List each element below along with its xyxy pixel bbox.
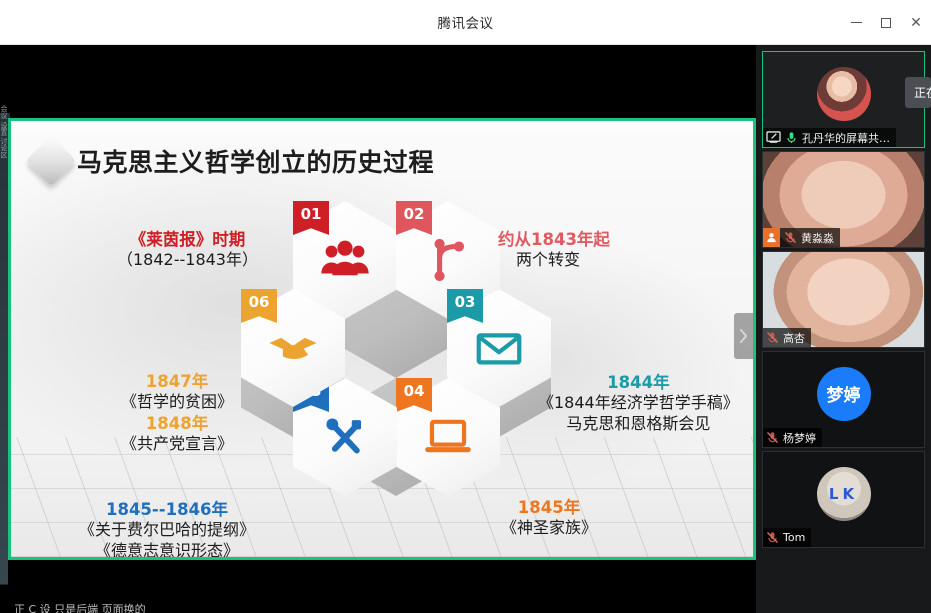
next-slide-button[interactable]: [734, 313, 753, 359]
participant-tile-3[interactable]: 梦婷 杨梦婷: [762, 351, 925, 448]
annotation-03-body: 《1844年经济学哲学手稿》 马克思和恩格斯会见: [538, 393, 739, 434]
participant-name-1: 黄淼淼: [801, 230, 834, 246]
git-branch-icon: [421, 233, 475, 287]
annotation-06: 1847年 《哲学的贫困》 1848年 《共产党宣言》: [121, 371, 233, 454]
hex-number-03: 03: [455, 293, 476, 311]
slide-title-row: 马克思主义哲学创立的历史过程: [33, 143, 434, 179]
close-icon: ✕: [910, 16, 922, 30]
mic-muted-icon: [766, 431, 779, 444]
annotation-01: 《莱茵报》时期 （1842--1843年）: [117, 229, 258, 271]
annotation-05: 1845--1846年 《关于费尔巴哈的提纲》 《德意志意识形态》: [79, 499, 255, 560]
annotation-02-heading: 约从1843年起: [498, 229, 610, 250]
shared-screen-stage[interactable]: 马克思主义哲学创立的历史过程: [8, 118, 756, 560]
mic-muted-icon: [784, 231, 797, 244]
participant-name-row-3: 杨梦婷: [763, 428, 822, 447]
meeting-content: 会议 设置 讨论区 马克思主义哲学创立的历史过程: [0, 45, 931, 613]
annotation-05-heading: 1845--1846年: [79, 499, 255, 520]
window-title: 腾讯会议: [438, 12, 494, 32]
minimize-button[interactable]: [841, 0, 871, 45]
mic-on-icon: [785, 131, 798, 144]
screen-share-icon: [766, 131, 781, 144]
annotation-04-body: 《神圣家族》: [501, 518, 597, 538]
avatar-4: LK: [817, 467, 871, 521]
close-button[interactable]: ✕: [901, 0, 931, 45]
slide-title: 马克思主义哲学创立的历史过程: [77, 143, 434, 179]
participant-name-row-0: 孔丹华的屏幕共…: [763, 128, 896, 147]
annotation-06-body-a: 《哲学的贫困》: [121, 392, 233, 412]
annotation-06-body-b: 《共产党宣言》: [121, 434, 233, 454]
tools-icon: [318, 410, 372, 464]
annotation-03: 1844年 《1844年经济学哲学手稿》 马克思和恩格斯会见: [538, 372, 739, 434]
presentation-slide: 马克思主义哲学创立的历史过程: [11, 121, 753, 557]
annotation-02: 约从1843年起 两个转变: [498, 229, 610, 271]
hex-number-04: 04: [404, 382, 425, 400]
tencent-meeting-window: 腾讯会议 ✕ 会议 设置 讨论区 马克思主义哲学创立的历史过程: [0, 0, 931, 613]
sharing-status-tooltip: 正在共享屏幕: [905, 77, 931, 108]
participant-name-row-4: Tom: [763, 528, 811, 547]
minimize-icon: [851, 22, 862, 23]
bottom-clipped-area: 正 C 设 只是后端 页面换的: [8, 560, 756, 613]
annotation-04: 1845年 《神圣家族》: [501, 497, 597, 539]
participant-tile-2[interactable]: 高杏: [762, 251, 925, 348]
mic-muted-icon: [766, 531, 779, 544]
diamond-icon: [26, 136, 77, 187]
maximize-button[interactable]: [871, 0, 901, 45]
handshake-icon: [266, 321, 320, 375]
annotation-04-heading: 1845年: [501, 497, 597, 518]
avatar-overlay-text-4: LK: [829, 485, 858, 503]
avatar-3: 梦婷: [817, 367, 871, 421]
annotation-03-heading: 1844年: [538, 372, 739, 393]
avatar-initials-3: 梦婷: [827, 381, 861, 406]
participant-name-4: Tom: [783, 531, 805, 544]
window-controls: ✕: [841, 0, 931, 45]
maximize-icon: [881, 18, 891, 28]
participant-name-row-2: 高杏: [763, 328, 811, 347]
avatar-0: [817, 67, 871, 121]
participant-name-0: 孔丹华的屏幕共…: [802, 130, 890, 146]
participant-name-3: 杨梦婷: [783, 430, 816, 446]
annotation-06-heading-b: 1848年: [121, 413, 233, 434]
participant-name-2: 高杏: [783, 330, 805, 346]
participant-tile-1[interactable]: 黄淼淼: [762, 151, 925, 248]
hex-number-02: 02: [404, 205, 425, 223]
title-bar: 腾讯会议 ✕: [0, 0, 931, 45]
envelope-icon: [472, 321, 526, 375]
laptop-icon: [421, 410, 475, 464]
participant-tile-0[interactable]: 孔丹华的屏幕共…: [762, 51, 925, 148]
chevron-right-icon: [738, 328, 749, 344]
annotation-02-body: 两个转变: [498, 250, 610, 270]
person-icon: [763, 228, 780, 247]
hex-number-01: 01: [301, 205, 322, 223]
participant-rail[interactable]: 孔丹华的屏幕共… 黄淼淼: [756, 45, 931, 613]
annotation-05-body: 《关于费尔巴哈的提纲》 《德意志意识形态》: [79, 520, 255, 560]
hex-number-06: 06: [249, 293, 270, 311]
annotation-06-heading-a: 1847年: [121, 371, 233, 392]
participant-tile-4[interactable]: LK Tom: [762, 451, 925, 548]
annotation-01-heading: 《莱茵报》时期: [117, 229, 258, 250]
mic-muted-icon: [766, 331, 779, 344]
annotation-01-body: （1842--1843年）: [117, 250, 258, 270]
participant-name-row-1: 黄淼淼: [763, 228, 840, 247]
clipped-text: 正 C 设 只是后端 页面换的: [14, 601, 146, 613]
people-group-icon: [318, 233, 372, 287]
